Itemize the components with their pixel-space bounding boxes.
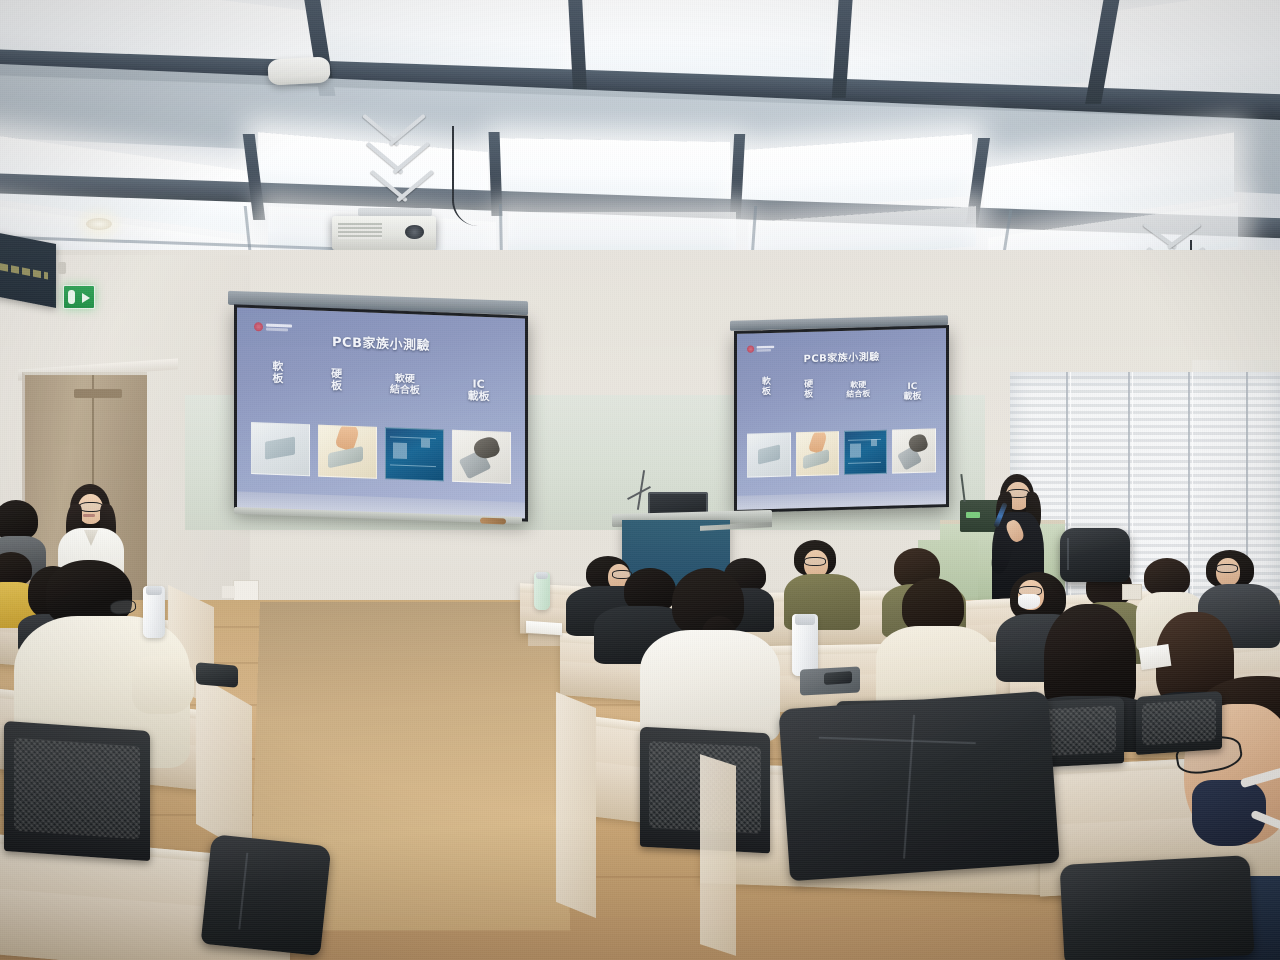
wall-display-sign [0, 232, 56, 308]
lecture-hall-photo: PCB家族小測驗 軟 板 硬 板 軟硬 結合板 IC 載板 [0, 0, 1280, 960]
backpack-foreground[interactable] [778, 691, 1059, 881]
student-mid-3-cream [876, 578, 996, 708]
photo-ic-substrate-left [452, 430, 511, 484]
student-mid-2-white [640, 568, 780, 738]
water-bottle-green[interactable] [534, 572, 550, 610]
photo-hard-board-right [796, 431, 839, 476]
ceiling-projector-left [332, 216, 436, 250]
slide-photo-row-right [748, 429, 936, 478]
projector-cable-left [452, 126, 478, 226]
pouch-on-desk[interactable] [196, 662, 238, 688]
ceiling-speaker-icon [267, 56, 330, 85]
slide-labels-left: 軟 板 硬 板 軟硬 結合板 IC 載板 [237, 359, 525, 405]
slide-label-rigidflex-left: 軟硬 結合板 [390, 373, 420, 397]
desk-left-block-front-side [196, 674, 252, 856]
wall-outlet-left-2[interactable] [222, 586, 235, 598]
chair-right-2[interactable] [1136, 691, 1222, 755]
slide-label-hard-left: 硬 板 [331, 368, 342, 393]
photo-soft-board-left [251, 422, 310, 476]
slide-surface-left: PCB家族小測驗 軟 板 硬 板 軟硬 結合板 IC 載板 [234, 304, 528, 521]
slide-labels-right: 軟 板 硬 板 軟硬 結合板 IC 載板 [737, 372, 946, 407]
notebook-paper[interactable] [1139, 644, 1172, 670]
photo-rigid-flex-right [844, 430, 887, 475]
slide-label-icsubstrate-right: IC 載板 [904, 382, 922, 403]
water-bottle-center[interactable] [792, 614, 818, 676]
photo-hard-board-left [318, 425, 377, 479]
desk-outlet[interactable] [1122, 584, 1142, 600]
projection-screen-right: PCB家族小測驗 軟 板 硬 板 軟硬 結合板 IC 載板 [730, 318, 948, 518]
chair-left-foreground[interactable] [4, 721, 150, 861]
slide-photo-row-left [251, 422, 510, 484]
slide-title-left: PCB家族小測驗 [237, 327, 525, 357]
desk-divider-center-left [556, 692, 596, 918]
photo-rigid-flex-left [385, 427, 444, 481]
exit-sign [63, 285, 95, 309]
photo-ic-substrate-right [893, 429, 936, 474]
water-bottle-left[interactable] [143, 586, 165, 638]
slide-label-soft-right: 軟 板 [762, 377, 771, 397]
slide-label-soft-left: 軟 板 [272, 361, 283, 386]
slide-surface-right: PCB家族小測驗 軟 板 硬 板 軟硬 結合板 IC 載板 [734, 325, 949, 513]
phone-on-desk[interactable] [824, 671, 852, 685]
slide-label-rigidflex-right: 軟硬 結合板 [847, 381, 871, 400]
photo-soft-board-right [748, 433, 791, 478]
sprinkler-icon [58, 262, 66, 274]
backpack-on-back-desk[interactable] [1060, 528, 1130, 582]
projector-lift-left [352, 124, 462, 220]
whiteboard-marker[interactable] [480, 518, 506, 525]
slide-label-hard-right: 硬 板 [804, 380, 813, 400]
paper-left-desk[interactable] [526, 621, 562, 636]
slide-label-icsubstrate-left: IC 載板 [468, 378, 490, 403]
backpack-left-floor[interactable] [201, 834, 332, 956]
projection-screen-left: PCB家族小測驗 軟 板 硬 板 軟硬 結合板 IC 載板 [228, 296, 528, 524]
desk-divider-center [700, 754, 736, 956]
downlight-icon [86, 218, 112, 230]
wall-outlet-left[interactable] [233, 580, 259, 602]
backpack-bottom-right[interactable] [1060, 855, 1255, 960]
